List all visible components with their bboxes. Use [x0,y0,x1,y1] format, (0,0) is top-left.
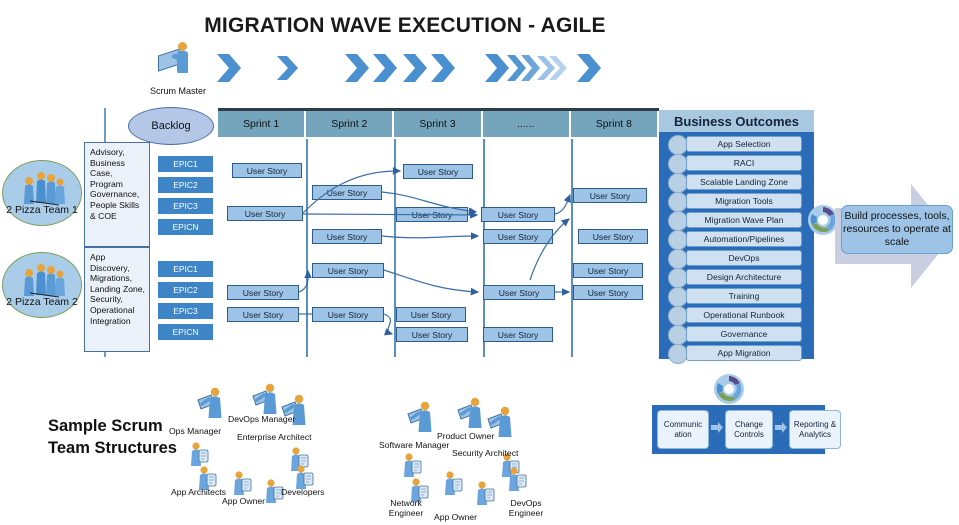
business-outcome-item[interactable]: RACI [686,155,802,171]
epic-box[interactable]: EPIC1 [157,260,214,278]
sprint-header-4: ...... [483,111,571,137]
sprint-column-divider [571,139,573,357]
backlog-node[interactable]: Backlog [128,107,214,145]
epic-box[interactable]: EPIC2 [157,176,214,194]
role-label: App Owner [434,512,477,522]
epic-box[interactable]: EPIC3 [157,197,214,215]
scale-callout: Build processes, tools, resources to ope… [841,205,953,254]
epic-box[interactable]: EPICN [157,323,214,341]
role-label: App Owner [222,496,265,506]
pizza-team-2-circle: 2 Pizza Team 2 [2,252,82,318]
role-label: App Architects [171,487,226,497]
user-story-card[interactable]: User Story [578,229,648,244]
role-label: Enterprise Architect [237,432,312,442]
team-2-scope-box: App Discovery, Migrations, Landing Zone,… [84,247,150,352]
business-outcome-item[interactable]: App Migration [686,345,802,361]
epic-box[interactable]: EPICN [157,218,214,236]
scrum-master-figure [158,40,198,84]
user-story-card[interactable]: User Story [232,163,302,178]
outcome-bullet-icon [668,173,688,193]
user-story-card[interactable]: User Story [396,327,468,342]
role-label: Developers [281,487,324,497]
outcome-bullet-icon [668,306,688,326]
sprint-header-3: Sprint 3 [394,111,482,137]
flow-arrow-1 [711,420,723,431]
user-story-card[interactable]: User Story [573,285,643,300]
chevron-arrows-group [215,52,605,84]
role-label: DevOps Manager [228,414,295,424]
outcome-bullet-icon [668,192,688,212]
user-story-card[interactable]: User Story [396,307,466,322]
user-story-card[interactable]: User Story [227,285,299,300]
team-1-scope-box: Advisory, Business Case, Program Governa… [84,142,150,247]
user-story-card[interactable]: User Story [481,207,555,222]
user-story-card[interactable]: User Story [227,206,303,221]
user-story-card[interactable]: User Story [403,164,473,179]
business-outcome-item[interactable]: Scalable Landing Zone [686,174,802,190]
business-outcome-item[interactable]: DevOps [686,250,802,266]
user-story-card[interactable]: User Story [312,307,384,322]
business-outcomes-title: Business Outcomes [659,110,814,132]
user-story-card[interactable]: User Story [396,207,468,222]
sprint-header-1: Sprint 1 [218,111,306,137]
sprint-header-2: Sprint 2 [306,111,394,137]
user-story-card[interactable]: User Story [573,263,643,278]
flow-box-communication[interactable]: Communic ation [657,410,709,449]
outcome-bullet-icon [668,135,688,155]
business-outcome-item[interactable]: Training [686,288,802,304]
user-story-card[interactable]: User Story [483,229,553,244]
user-story-card[interactable]: User Story [312,229,382,244]
role-label: Ops Manager [169,426,221,436]
role-label: Software Manager [379,440,449,450]
business-outcome-item[interactable]: Automation/Pipelines [686,231,802,247]
user-story-card[interactable]: User Story [573,188,647,203]
scrum-structures-heading: Sample Scrum Team Structures [48,415,208,459]
flow-arrow-2 [775,420,787,431]
role-label: Network Engineer [383,498,429,518]
outcome-bullet-icon [668,211,688,231]
business-outcome-item[interactable]: Design Architecture [686,269,802,285]
flow-box-reporting-analytics[interactable]: Reporting & Analytics [789,410,841,449]
epic-box[interactable]: EPIC3 [157,302,214,320]
user-story-card[interactable]: User Story [483,327,553,342]
scrum-master-label: Scrum Master [134,86,222,96]
sprint-column-divider [306,139,308,357]
role-label: Product Owner [437,431,494,441]
user-story-card[interactable]: User Story [483,285,555,300]
outcome-bullet-icon [668,268,688,288]
business-outcome-item[interactable]: Governance [686,326,802,342]
pizza-team-1-label: 2 Pizza Team 1 [3,204,81,216]
role-label: Security Architect [452,448,518,458]
outcome-bullet-icon [668,287,688,307]
outcome-bullet-icon [668,249,688,269]
outcome-bullet-icon [668,344,688,364]
pizza-team-1-circle: 2 Pizza Team 1 [2,160,82,226]
business-outcome-item[interactable]: App Selection [686,136,802,152]
page-title: MIGRATION WAVE EXECUTION - AGILE [0,14,810,38]
sprint-column-divider [483,139,485,357]
epic-box[interactable]: EPIC2 [157,281,214,299]
outcome-bullet-icon [668,154,688,174]
user-story-card[interactable]: User Story [312,263,384,278]
business-outcome-item[interactable]: Operational Runbook [686,307,802,323]
pizza-team-2-label: 2 Pizza Team 2 [3,296,81,308]
role-label: DevOps Engineer [503,498,549,518]
business-outcome-item[interactable]: Migration Wave Plan [686,212,802,228]
sprint-column-divider [394,139,396,357]
user-story-card[interactable]: User Story [227,307,299,322]
user-story-card[interactable]: User Story [312,185,382,200]
outcome-bullet-icon [668,325,688,345]
sprint-header-5: Sprint 8 [571,111,659,137]
epic-box[interactable]: EPIC1 [157,155,214,173]
outcome-bullet-icon [668,230,688,250]
flow-box-change-controls[interactable]: Change Controls [725,410,773,449]
business-outcome-item[interactable]: Migration Tools [686,193,802,209]
